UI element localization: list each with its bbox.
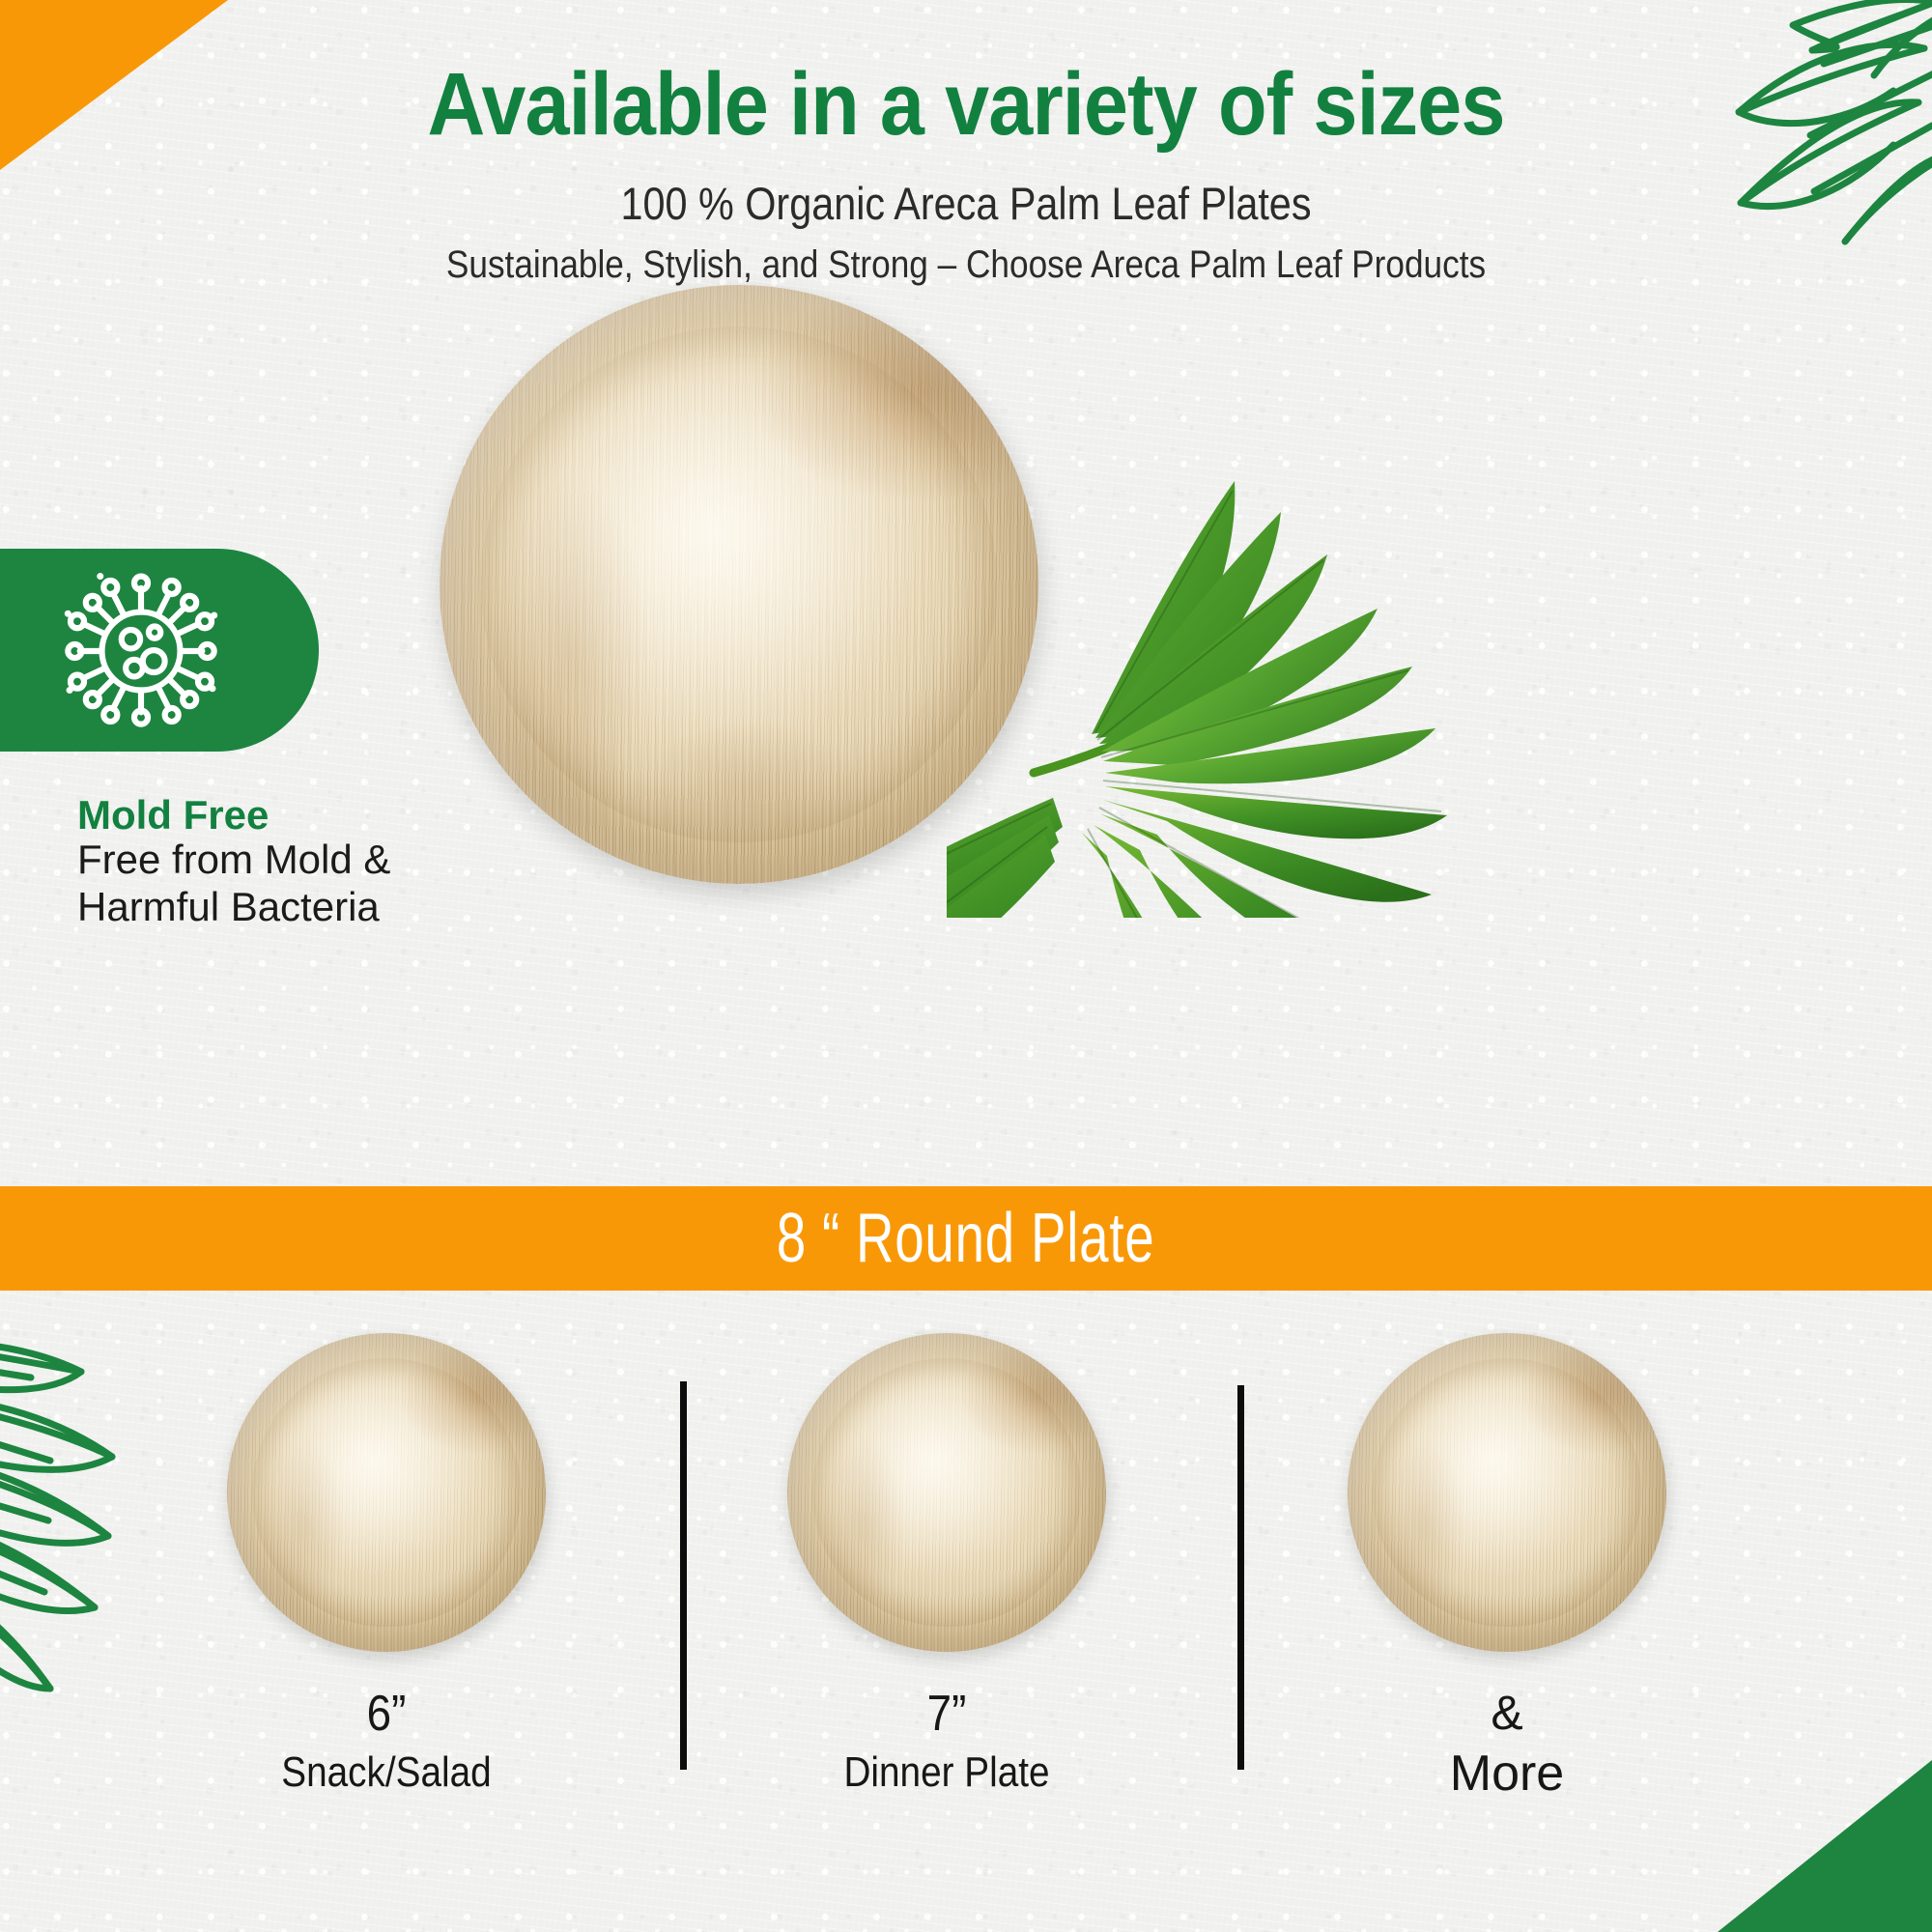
- size-option-more: & More: [1294, 1333, 1719, 1803]
- size-usage: Snack/Salad: [199, 1743, 573, 1797]
- mold-free-badge: [0, 549, 319, 752]
- page-title: Available in a variety of sizes: [97, 0, 1835, 152]
- size-option-6in: 6” Snack/Salad: [174, 1333, 599, 1797]
- plate-thumbnail: [227, 1333, 546, 1652]
- size-option-7in: 7” Dinner Plate: [734, 1333, 1159, 1797]
- size-value: 6”: [199, 1652, 573, 1743]
- plate-thumbnail: [1348, 1333, 1666, 1652]
- size-value: &: [1294, 1652, 1719, 1741]
- subtitle-secondary: Sustainable, Stylish, and Strong – Choos…: [116, 230, 1816, 287]
- badge-description: Free from Mold & Harmful Bacteria: [77, 837, 541, 930]
- round-plate-8in: [440, 285, 1038, 884]
- plate-thumbnail: [787, 1333, 1106, 1652]
- banner-label: 8 “ Round Plate: [777, 1199, 1155, 1278]
- size-banner: 8 “ Round Plate: [0, 1186, 1932, 1291]
- size-value: 7”: [759, 1652, 1133, 1743]
- subtitle-primary: 100 % Organic Areca Palm Leaf Plates: [116, 152, 1816, 230]
- size-usage: More: [1294, 1741, 1719, 1803]
- hero-plate-image: [440, 285, 1038, 884]
- sizes-row: 6” Snack/Salad 7” Dinner Plate & More: [0, 1333, 1932, 1874]
- badge-title: Mold Free: [77, 792, 269, 838]
- size-usage: Dinner Plate: [759, 1743, 1133, 1797]
- palm-frond-image: [947, 319, 1681, 918]
- header-block: Available in a variety of sizes 100 % Or…: [0, 0, 1932, 287]
- virus-germ-icon: [56, 566, 226, 736]
